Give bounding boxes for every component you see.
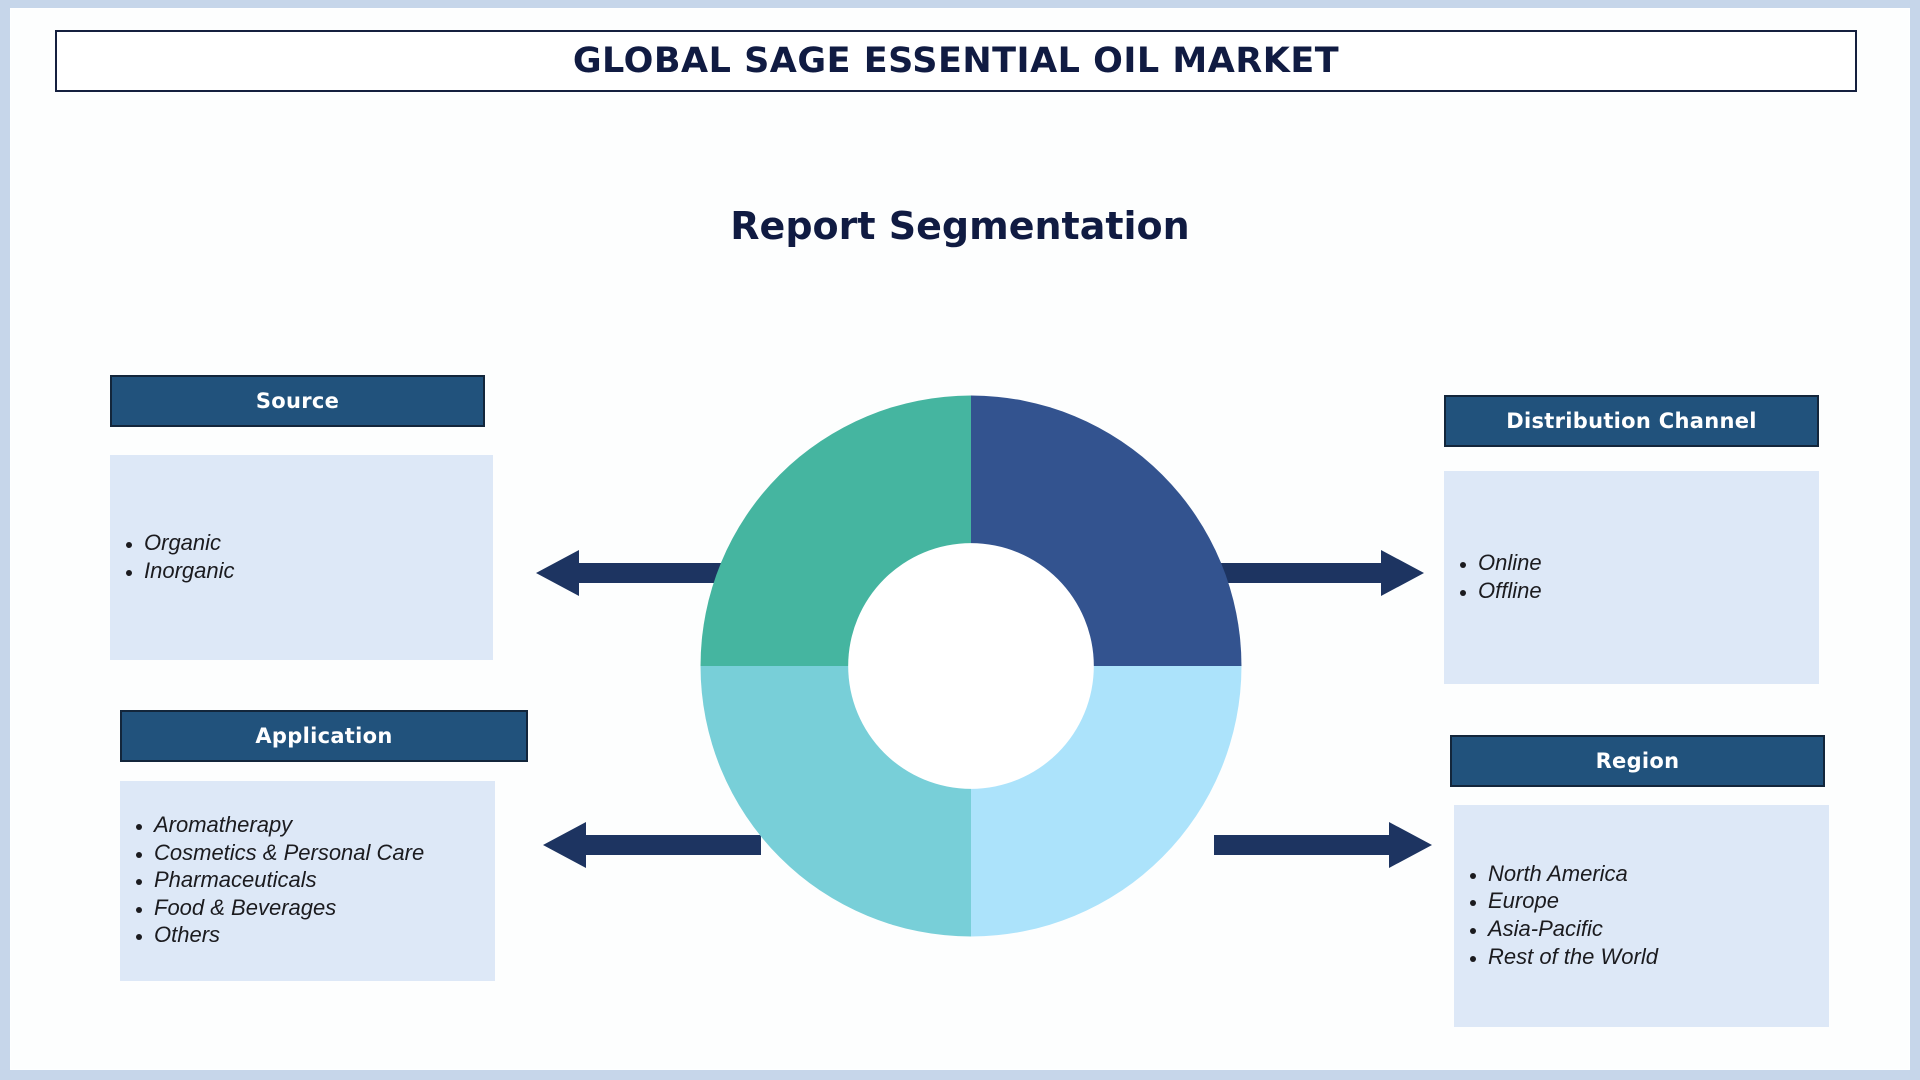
segment-header-region-label: Region — [1596, 749, 1680, 773]
list-item: Online — [1478, 550, 1542, 576]
donut-center-hole — [848, 543, 1094, 789]
donut-svg — [695, 390, 1247, 942]
segment-body-region: North America Europe Asia-Pacific Rest o… — [1454, 805, 1829, 1027]
list-item: Organic — [144, 530, 235, 556]
list-item: Offline — [1478, 578, 1542, 604]
segment-header-source-label: Source — [256, 389, 339, 413]
segment-body-application: Aromatherapy Cosmetics & Personal Care P… — [120, 781, 495, 981]
segmentation-donut-chart — [695, 390, 1247, 942]
list-item: Inorganic — [144, 558, 235, 584]
page-title-box: GLOBAL SAGE ESSENTIAL OIL MARKET — [55, 30, 1857, 92]
list-item: North America — [1488, 861, 1658, 887]
list-item: Aromatherapy — [154, 812, 424, 838]
segment-header-region[interactable]: Region — [1450, 735, 1825, 787]
segment-header-application[interactable]: Application — [120, 710, 528, 762]
segment-list-region: North America Europe Asia-Pacific Rest o… — [1454, 861, 1658, 971]
section-subtitle: Report Segmentation — [10, 204, 1910, 248]
arrow-right-region-icon — [1214, 820, 1434, 870]
list-item: Europe — [1488, 888, 1658, 914]
segment-header-distribution-channel[interactable]: Distribution Channel — [1444, 395, 1819, 447]
list-item: Pharmaceuticals — [154, 867, 424, 893]
segment-list-application: Aromatherapy Cosmetics & Personal Care P… — [120, 812, 424, 950]
list-item: Rest of the World — [1488, 944, 1658, 970]
list-item: Asia-Pacific — [1488, 916, 1658, 942]
page-title: GLOBAL SAGE ESSENTIAL OIL MARKET — [573, 41, 1339, 81]
segment-list-source: Organic Inorganic — [110, 530, 235, 585]
infographic-page: GLOBAL SAGE ESSENTIAL OIL MARKET Report … — [0, 0, 1920, 1080]
segment-header-distribution-channel-label: Distribution Channel — [1506, 409, 1757, 433]
segment-header-source[interactable]: Source — [110, 375, 485, 427]
list-item: Food & Beverages — [154, 895, 424, 921]
list-item: Others — [154, 922, 424, 948]
segment-header-application-label: Application — [255, 724, 392, 748]
segment-body-source: Organic Inorganic — [110, 455, 493, 660]
segment-body-distribution-channel: Online Offline — [1444, 471, 1819, 684]
infographic-canvas: GLOBAL SAGE ESSENTIAL OIL MARKET Report … — [10, 8, 1910, 1070]
list-item: Cosmetics & Personal Care — [154, 840, 424, 866]
segment-list-distribution-channel: Online Offline — [1444, 550, 1542, 605]
